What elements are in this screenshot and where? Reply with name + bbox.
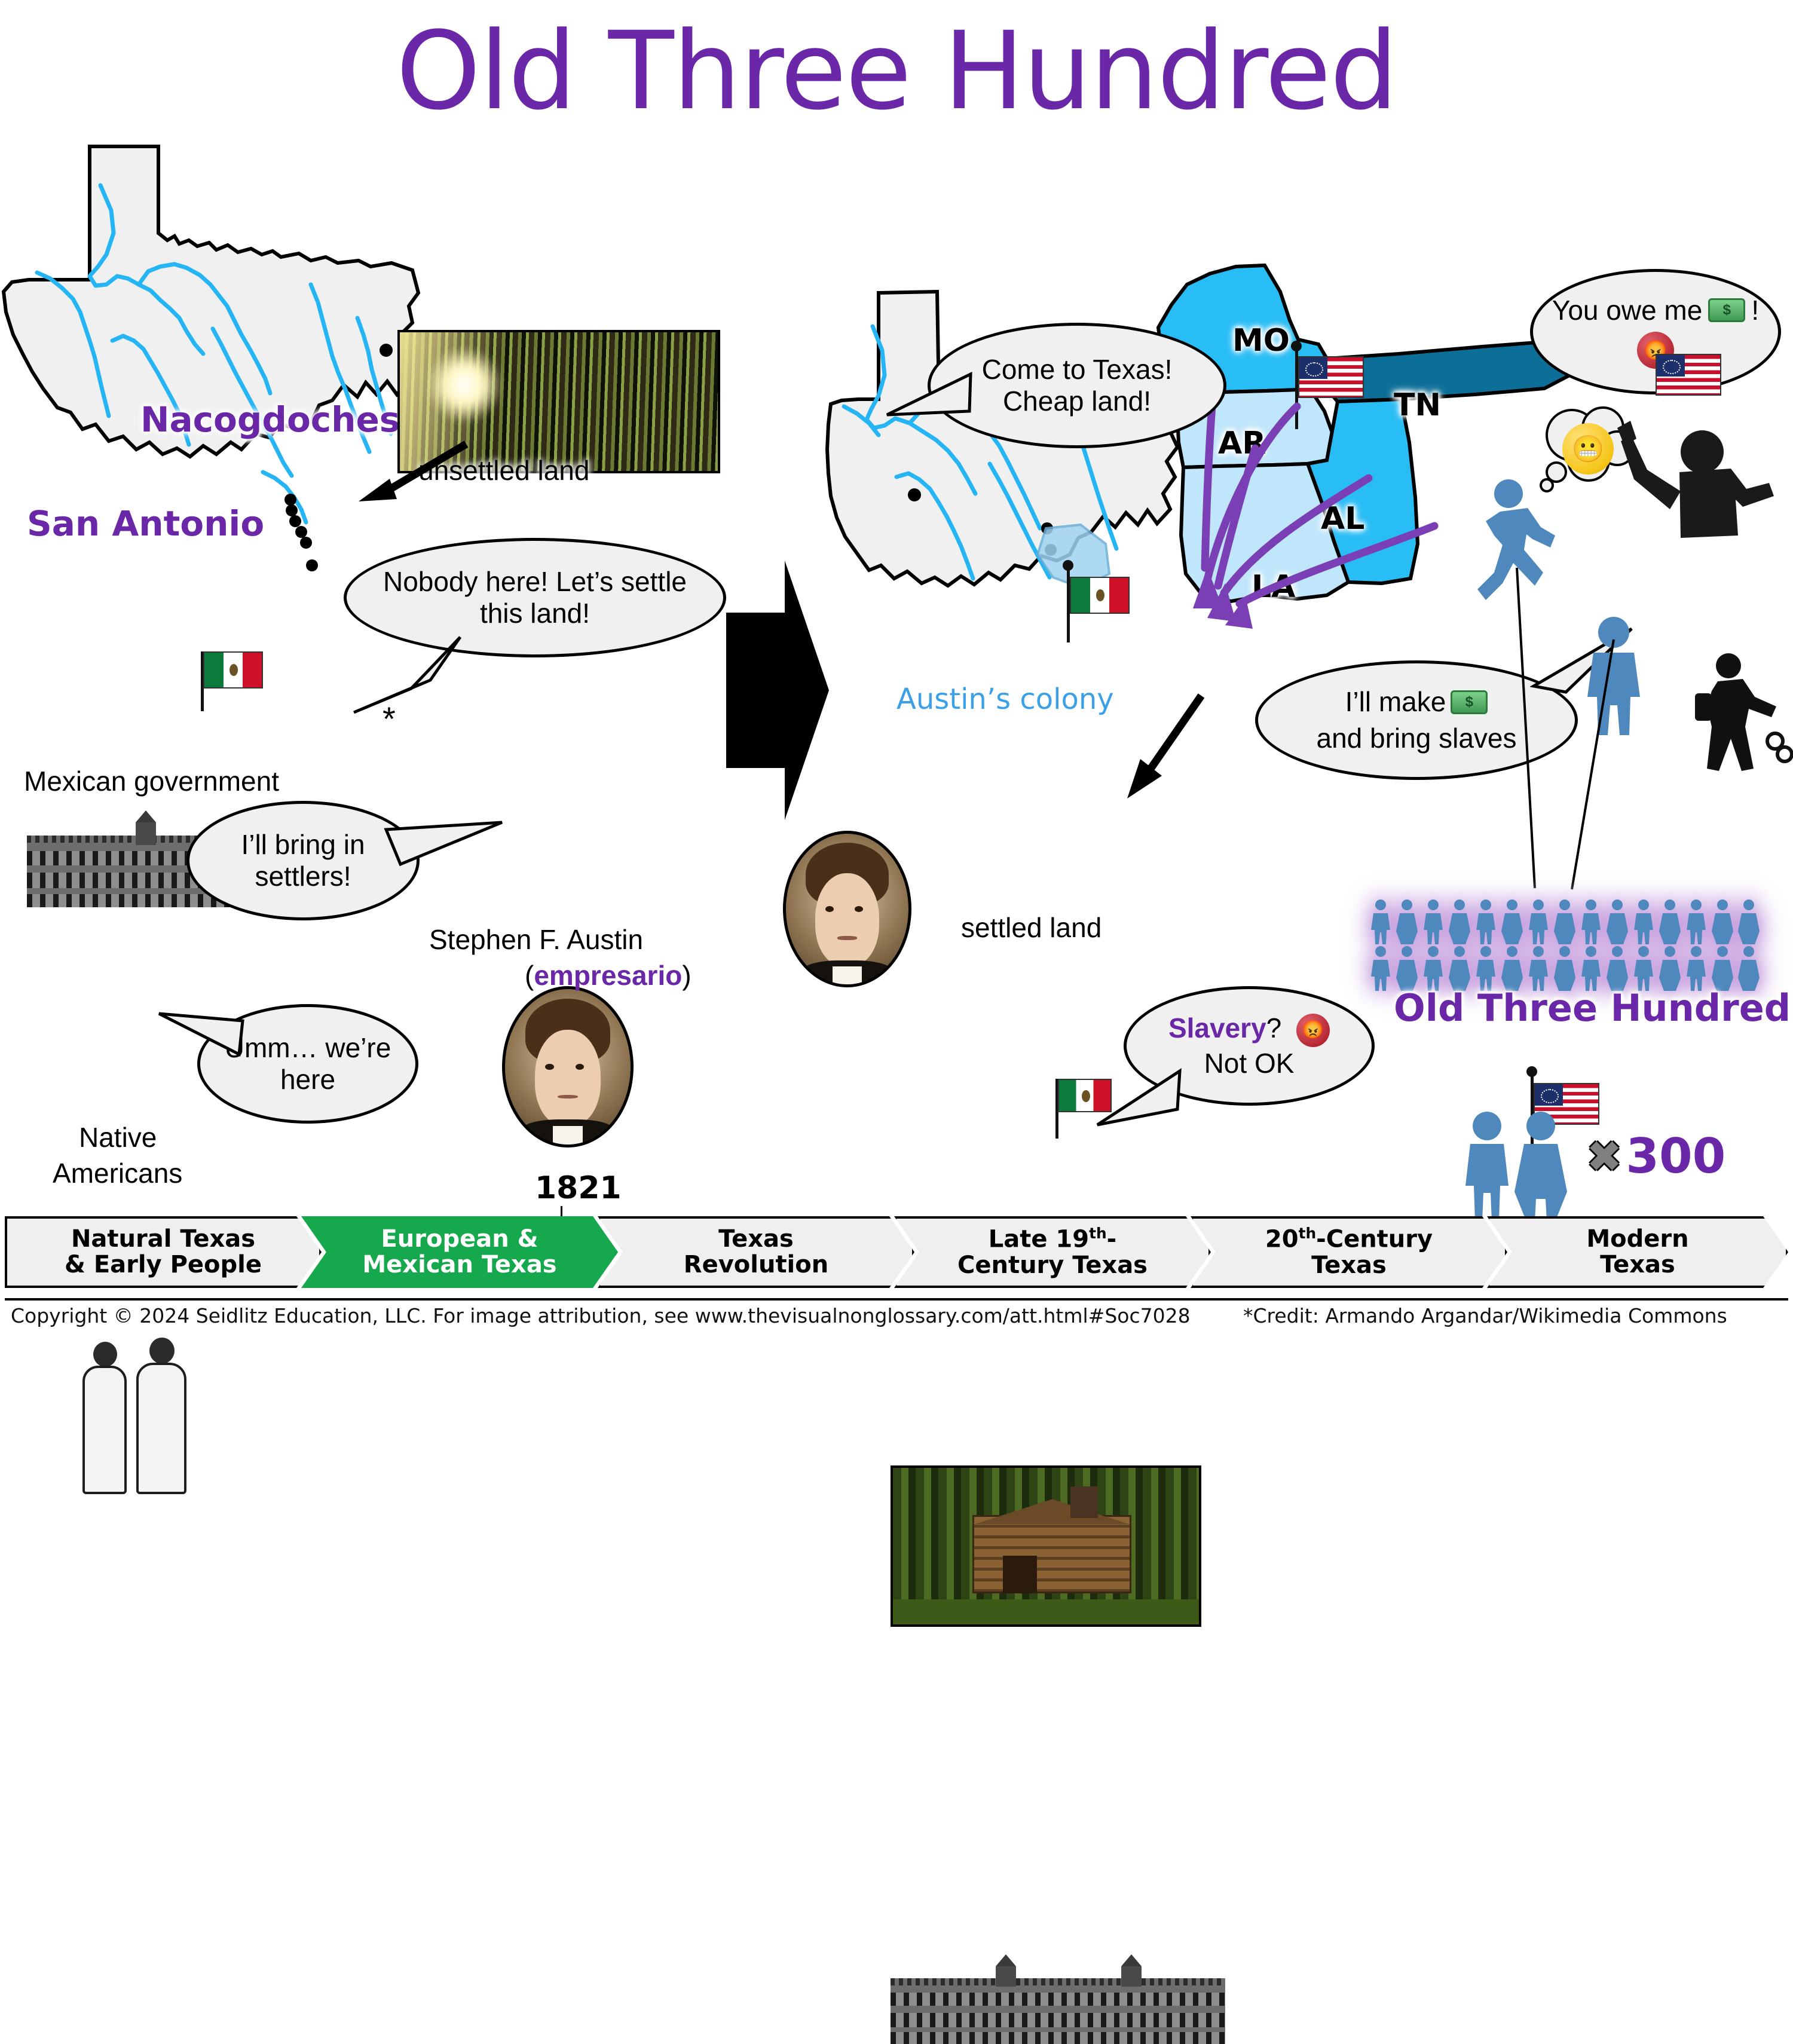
couple-pictogram — [1463, 1110, 1583, 1224]
native-americans-label-line1: Native — [79, 1121, 157, 1153]
tl5-line2: Texas — [1600, 1251, 1675, 1278]
bubble-bring-settlers-tail — [383, 818, 514, 883]
tl5-line1: Modern — [1586, 1225, 1688, 1253]
us-flag-top-right — [1656, 354, 1721, 396]
tl3-sup: th — [1089, 1225, 1107, 1242]
timeline-segment-natural-texas[interactable]: Natural Texas & Early People — [5, 1216, 322, 1288]
bubble-come-to-texas-tail — [885, 366, 974, 437]
enslaved-person-silhouette — [1685, 651, 1793, 777]
crowd-connector-lines — [1500, 562, 1673, 896]
tl0-line1: Natural Texas — [71, 1225, 255, 1253]
austins-colony-label: Austin’s colony — [896, 683, 1114, 716]
pointing-man-illustration — [1590, 412, 1787, 556]
tl3-line2: Century Texas — [957, 1252, 1148, 1279]
footer-credit: *Credit: Armando Argandar/Wikimedia Comm… — [1243, 1304, 1727, 1327]
bubble-make-money-post: and bring slaves — [1317, 723, 1517, 754]
tl4-sup: th — [1299, 1225, 1317, 1242]
timeline-year-marker: 1821 — [535, 1170, 622, 1206]
money-icon: $ — [1451, 690, 1488, 714]
tl2-line2: Revolution — [684, 1251, 828, 1278]
timeline: Natural Texas & Early People European & … — [5, 1216, 1788, 1288]
money-icon-2: $ — [1708, 298, 1745, 322]
stephen-f-austin-portrait-top — [783, 831, 911, 987]
slavery-not-ok: Not OK — [1168, 1047, 1330, 1080]
role-paren-close: ) — [682, 960, 691, 991]
bubble-make-money-pre: I’ll make — [1345, 686, 1446, 718]
transition-arrow — [720, 556, 834, 825]
tl2-line1: Texas — [718, 1225, 794, 1253]
bubble-nobody-here-tail — [341, 634, 472, 717]
tl3-line1b: - — [1107, 1225, 1117, 1253]
multiply-icon: ✖ — [1586, 1131, 1622, 1182]
bubble-umm-tail — [157, 1010, 246, 1076]
multiplier-value: 300 — [1626, 1128, 1725, 1184]
stephen-f-austin-role: (empresario) — [525, 959, 692, 992]
settled-land-caption: settled land — [961, 911, 1101, 944]
multiplier-300: ✖ 300 — [1586, 1128, 1725, 1184]
page-title: Old Three Hundred — [0, 18, 1793, 126]
timeline-segment-20th-century-texas[interactable]: 20th-Century Texas — [1191, 1216, 1507, 1288]
stephen-f-austin-name: Stephen F. Austin — [429, 923, 643, 956]
settled-land-arrow — [1106, 687, 1207, 801]
mexican-flag-government — [203, 651, 263, 689]
role-paren-open: ( — [525, 960, 534, 991]
stephen-f-austin-portrait-left — [502, 986, 634, 1148]
state-label-mo: MO — [1232, 323, 1290, 359]
native-americans-label-line2: Americans — [53, 1157, 182, 1189]
timeline-segment-late-19th-century-texas[interactable]: Late 19th- Century Texas — [894, 1216, 1211, 1288]
tl1-line1: European & — [381, 1225, 538, 1253]
tl0-line2: & Early People — [65, 1251, 262, 1278]
mexican-government-label: Mexican government — [24, 765, 279, 797]
map-label-san-antonio: San Antonio — [27, 503, 264, 544]
mexican-flag-bottom — [1058, 1079, 1112, 1112]
tl1-line2: Mexican Texas — [362, 1251, 556, 1278]
native-americans-illustration — [78, 1333, 191, 1494]
mexican-government-asterisk: * — [383, 699, 396, 738]
old-three-hundred-crowd-label: Old Three Hundred — [1394, 986, 1791, 1030]
slavery-word: Slavery — [1168, 1012, 1266, 1044]
settled-land-photo — [891, 1465, 1201, 1627]
tl4-line2: Texas — [1311, 1252, 1387, 1279]
timeline-segment-modern-texas[interactable]: Modern Texas — [1487, 1216, 1788, 1288]
bubble-you-owe-me-pre: You owe me — [1552, 295, 1702, 326]
footer-copyright: Copyright © 2024 Seidlitz Education, LLC… — [11, 1304, 1191, 1327]
slavery-question: ? — [1266, 1012, 1282, 1044]
footer-divider — [5, 1298, 1788, 1301]
tl4-line1: 20 — [1265, 1225, 1299, 1253]
unsettled-land-arrow — [353, 439, 472, 505]
role-empresario: empresario — [534, 960, 682, 991]
tl4-line1b: -Century — [1316, 1225, 1433, 1253]
angry-face-icon-2: 😡 — [1296, 1014, 1330, 1047]
timeline-segment-texas-revolution[interactable]: Texas Revolution — [598, 1216, 914, 1288]
bubble-you-owe-me-post: ! — [1751, 295, 1759, 326]
map-label-nacogdoches: Nacogdoches — [140, 399, 400, 440]
old-three-hundred-crowd — [1369, 896, 1770, 992]
timeline-segment-european-mexican-texas[interactable]: European & Mexican Texas — [301, 1216, 618, 1288]
mexican-government-building-bottom — [891, 1978, 1225, 2044]
tl3-line1: Late 19 — [989, 1225, 1089, 1253]
